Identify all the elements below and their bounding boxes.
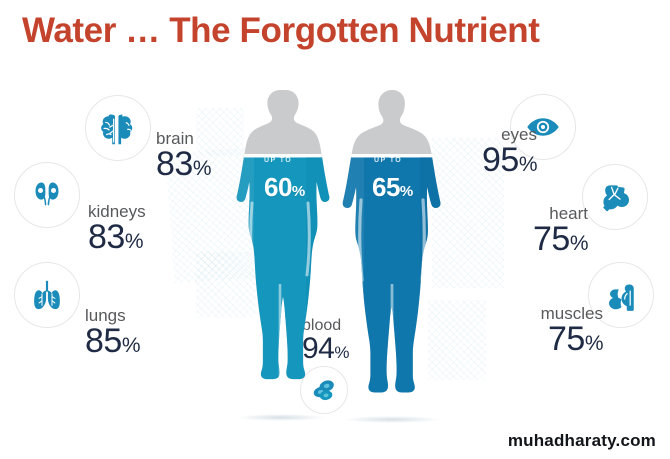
male-percent: 65%: [372, 172, 413, 203]
male-body-silhouette: [336, 88, 448, 422]
stat-eyes: eyes 95%: [447, 126, 537, 178]
brain-icon: [85, 95, 151, 161]
stat-heart: heart 75%: [478, 205, 588, 257]
female-body-silhouette: [228, 88, 332, 420]
stat-brain: brain 83%: [156, 130, 211, 182]
lungs-icon: [14, 262, 80, 328]
page-title: Water … The Forgotten Nutrient: [22, 11, 540, 51]
heart-icon: [582, 164, 648, 230]
kidneys-icon: [14, 162, 80, 228]
stat-eyes-value: 95%: [447, 143, 537, 178]
stat-muscles: muscles 75%: [468, 305, 603, 357]
stat-brain-value: 83%: [156, 147, 211, 182]
stat-heart-value: 75%: [478, 222, 588, 257]
stat-kidneys: kidneys 83%: [88, 203, 146, 255]
stat-lungs-value: 85%: [85, 324, 140, 359]
female-upto-label: UP TO: [264, 157, 292, 164]
water-infographic: Water … The Forgotten Nutrient: [0, 0, 670, 459]
stat-muscles-value: 75%: [468, 322, 603, 357]
stat-lungs: lungs 85%: [85, 307, 140, 359]
female-percent: 60%: [264, 172, 305, 203]
watermark: muhadharaty.com: [508, 431, 656, 451]
stat-kidneys-value: 83%: [88, 220, 146, 255]
male-upto-label: UP TO: [374, 157, 402, 164]
